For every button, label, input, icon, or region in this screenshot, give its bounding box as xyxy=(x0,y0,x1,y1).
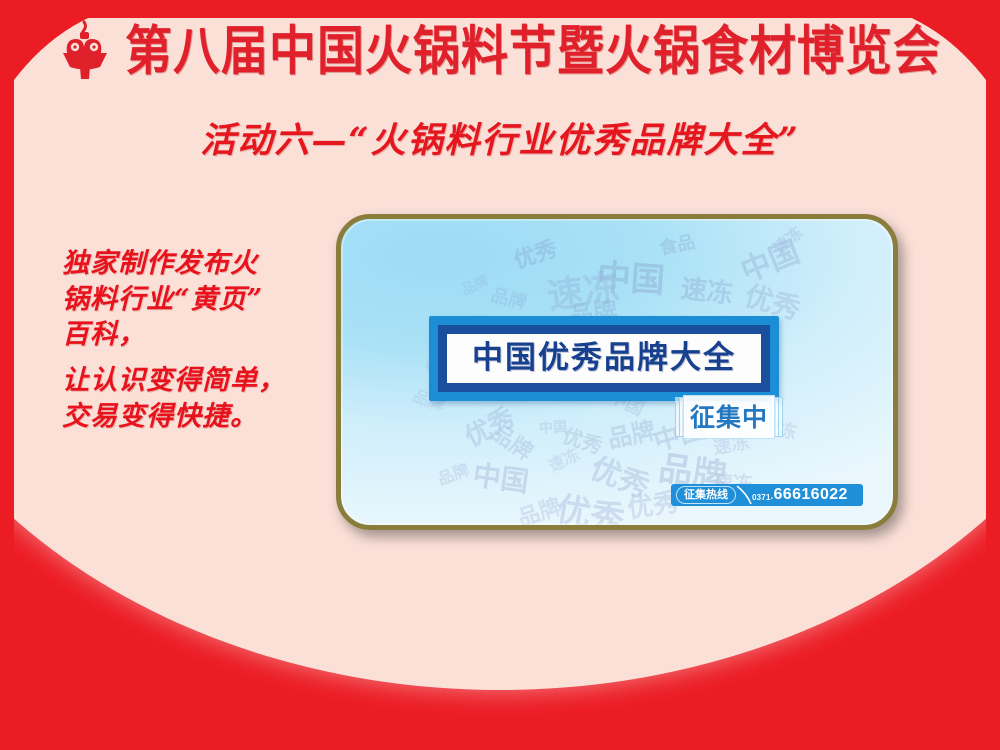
status-badge[interactable]: 征集中 xyxy=(675,395,783,437)
body-line-1: 独家制作发布火 xyxy=(62,246,332,282)
wordcloud-word: 食品 xyxy=(657,228,698,261)
body-line-4: 让认识变得简单， xyxy=(62,363,332,399)
body-line-2: 锅料行业“黄页” xyxy=(62,282,332,318)
banner-title-text: 中国优秀品牌大全 xyxy=(472,343,736,374)
body-line-5: 交易变得快捷。 xyxy=(62,399,332,435)
hotline-bar[interactable]: 征集热线 0371- 66616022 xyxy=(671,484,863,506)
hotpot-vessel-icon xyxy=(59,20,111,82)
slide-canvas: 第八届中国火锅料节暨火锅食材博览会 活动六—“火锅料行业优秀品牌大全” 独家制作… xyxy=(0,0,1000,750)
body-copy: 独家制作发布火 锅料行业“黄页” 百科， 让认识变得简单， 交易变得快捷。 xyxy=(62,246,332,434)
header: 第八届中国火锅料节暨火锅食材博览会 xyxy=(0,14,1000,88)
card-title-banner: 中国优秀品牌大全 xyxy=(429,316,779,401)
hotline-number: 66616022 xyxy=(773,486,847,504)
swoosh-icon xyxy=(736,484,752,506)
page-title: 第八届中国火锅料节暨火锅食材博览会 xyxy=(125,25,941,78)
hotline-area-code: 0371- xyxy=(752,493,773,502)
wordcloud-word: 品牌 xyxy=(488,281,529,315)
badge-box: 征集中 xyxy=(683,395,775,439)
brand-directory-card[interactable]: 优秀速冻中国食品速冻中国速冻品牌品牌优秀品牌优秀品牌中国品牌中国优秀速冻品牌优秀… xyxy=(336,214,898,530)
wordcloud-word: 速冻 xyxy=(679,268,735,310)
wordcloud-word: 中国 xyxy=(470,453,531,500)
body-line-3: 百科， xyxy=(62,317,332,353)
subtitle: 活动六—“火锅料行业优秀品牌大全” xyxy=(0,112,1000,163)
wordcloud-word: 品牌 xyxy=(434,456,472,490)
banner-frame-inner: 中国优秀品牌大全 xyxy=(438,325,770,392)
badge-label: 征集中 xyxy=(690,405,768,430)
hotline-label: 征集热线 xyxy=(676,486,736,504)
wordcloud-word: 品牌 xyxy=(458,270,492,300)
banner-plate: 中国优秀品牌大全 xyxy=(447,334,761,383)
